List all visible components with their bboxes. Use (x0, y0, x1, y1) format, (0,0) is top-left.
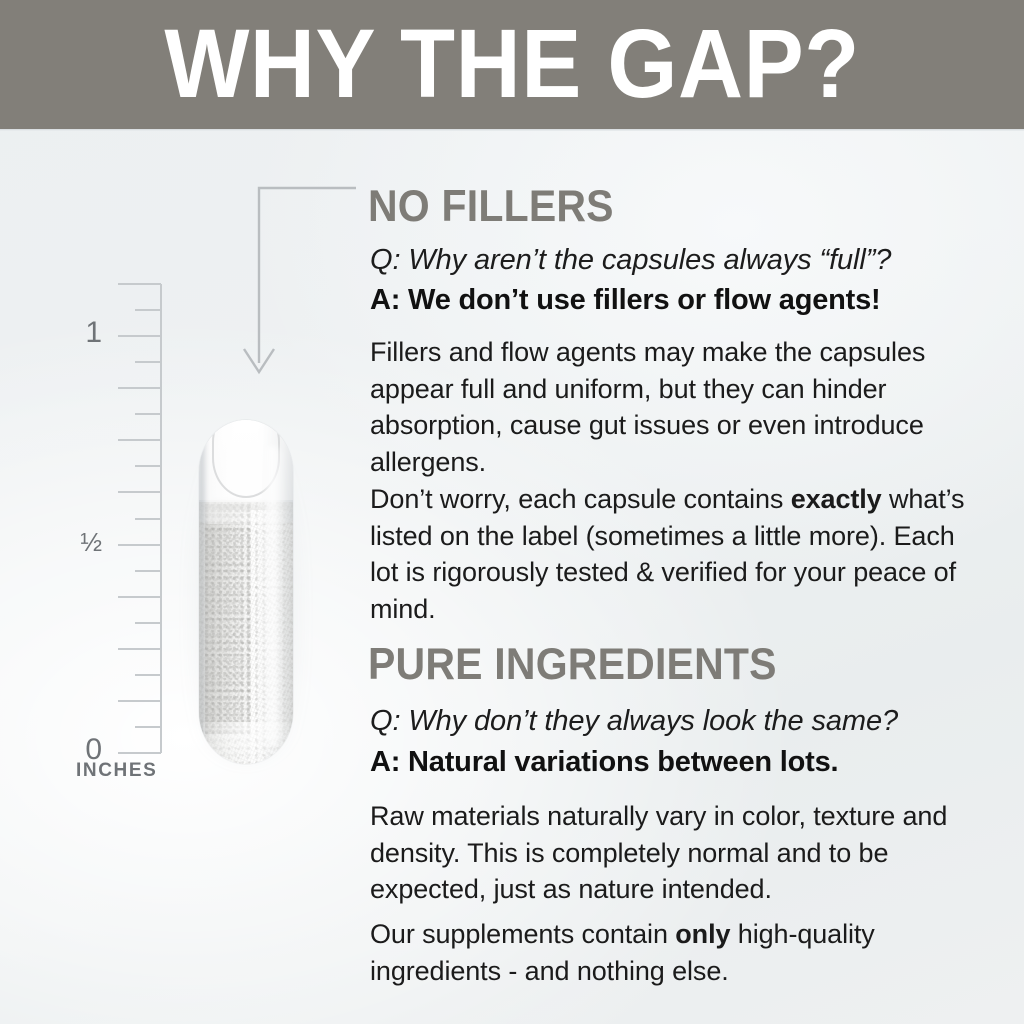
capsule-image (199, 420, 293, 764)
body-text: Don’t worry, each capsule contains (370, 484, 791, 514)
paragraph-our-supplements: Our supplements contain only high-qualit… (370, 916, 970, 989)
ruler-label-1: ½ (42, 529, 102, 555)
infographic-page: WHY THE GAP? 1½0 INCHES NO FILLE (0, 0, 1024, 1024)
ruler-tick (118, 648, 161, 650)
ruler-tick (135, 465, 161, 467)
ruler-tick (135, 413, 161, 415)
body-text: Raw materials naturally vary in color, t… (370, 801, 947, 904)
paragraph-dont-worry: Don’t worry, each capsule contains exact… (370, 481, 970, 628)
body-text: Fillers and flow agents may make the cap… (370, 337, 925, 477)
ruler-tick (118, 544, 161, 546)
capsule-powder-texture (205, 504, 251, 734)
ruler-tick (135, 726, 161, 728)
emphasis-text: only (675, 919, 730, 949)
paragraph-raw-materials: Raw materials naturally vary in color, t… (370, 798, 970, 908)
ruler-tick (118, 387, 161, 389)
ruler-tick-top (118, 283, 161, 285)
ruler-tick (135, 361, 161, 363)
ruler-tick (118, 596, 161, 598)
capsule-specular-highlight (262, 446, 282, 746)
ruler-tick (118, 439, 161, 441)
capsule-body (199, 420, 293, 764)
ruler-tick (118, 700, 161, 702)
ruler-tick (118, 491, 161, 493)
ruler-caption: INCHES (76, 760, 157, 782)
body-text: Our supplements contain (370, 919, 675, 949)
ruler-label-0: 1 (42, 318, 102, 348)
ruler-tick (118, 335, 161, 337)
paragraph-fillers-flow-agents: Fillers and flow agents may make the cap… (370, 334, 955, 481)
section-heading-pure-ingredients: PURE INGREDIENTS (368, 642, 777, 686)
capsule-left-edge-shading (200, 428, 207, 756)
content-column: NO FILLERS Q: Why aren’t the capsules al… (368, 0, 988, 1024)
question-no-fillers: Q: Why aren’t the capsules always “full”… (370, 242, 970, 279)
ruler-tick (118, 752, 161, 754)
section-heading-no-fillers: NO FILLERS (368, 184, 614, 228)
ruler-tick (135, 309, 161, 311)
emphasis-text: exactly (791, 484, 882, 514)
question-pure-ingredients: Q: Why don’t they always look the same? (370, 703, 970, 740)
answer-pure-ingredients: A: Natural variations between lots. (370, 744, 970, 781)
answer-no-fillers: A: We don’t use fillers or flow agents! (370, 282, 970, 319)
ruler-tick (135, 674, 161, 676)
ruler-tick (135, 518, 161, 520)
ruler-tick (135, 570, 161, 572)
ruler-tick (135, 622, 161, 624)
